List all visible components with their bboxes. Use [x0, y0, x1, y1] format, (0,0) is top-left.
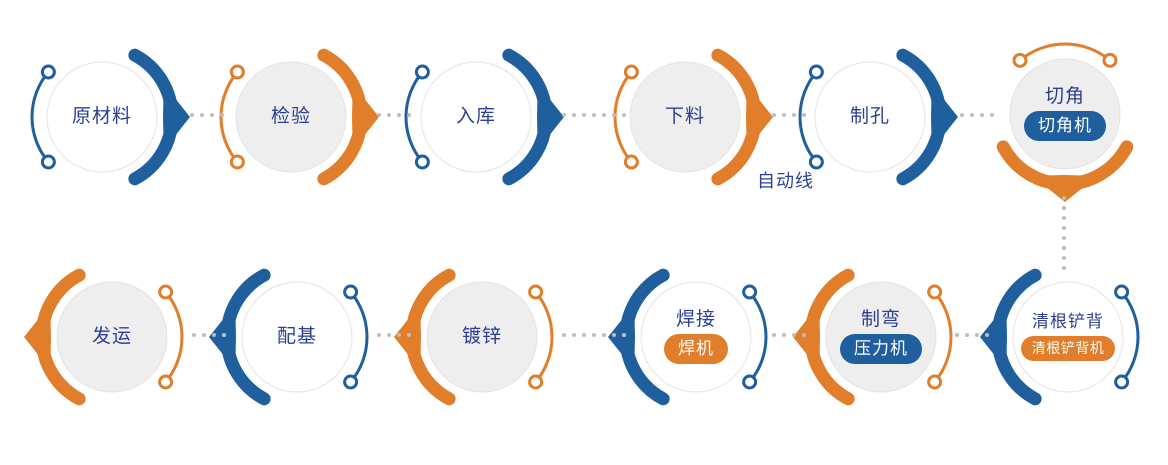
process-node-welding[interactable]: 焊接焊机 [601, 242, 791, 432]
connector-blanking-to-drilling [772, 113, 806, 117]
process-node-raw-material[interactable]: 原材料 [7, 22, 197, 212]
process-flow-diagram: 原材料 检验 入库 下料 制孔 切角切角机 发运 配基 镀锌 焊接焊机 制弯压力… [0, 0, 1168, 465]
process-node-galvanizing[interactable]: 镀锌 [387, 242, 577, 432]
process-node-root-cleaning[interactable]: 清根铲背清根铲背机 [973, 242, 1163, 432]
connector-drilling-to-corner-cut [960, 113, 994, 117]
label-auto-line: 自动线 [757, 167, 814, 193]
connector-welding-to-galvanizing [562, 333, 626, 337]
connector-base-fitting-to-shipping [192, 333, 226, 337]
process-node-bending[interactable]: 制弯压力机 [786, 242, 976, 432]
connector-root-cleaning-to-bending [955, 333, 989, 337]
connector-corner-cut-to-root-cleaning [1062, 196, 1066, 270]
process-node-inspection[interactable]: 检验 [196, 22, 386, 212]
connector-raw-material-to-inspection [190, 113, 224, 117]
process-node-corner-cut[interactable]: 切角切角机 [970, 19, 1160, 209]
process-node-blanking[interactable]: 下料 [590, 22, 780, 212]
process-node-base-fitting[interactable]: 配基 [202, 242, 392, 432]
process-node-shipping[interactable]: 发运 [17, 242, 207, 432]
connector-galvanizing-to-base-fitting [377, 333, 411, 337]
connector-bending-to-welding [772, 333, 806, 337]
process-node-warehousing[interactable]: 入库 [381, 22, 571, 212]
connector-warehousing-to-blanking [562, 113, 626, 117]
connector-inspection-to-warehousing [377, 113, 411, 117]
